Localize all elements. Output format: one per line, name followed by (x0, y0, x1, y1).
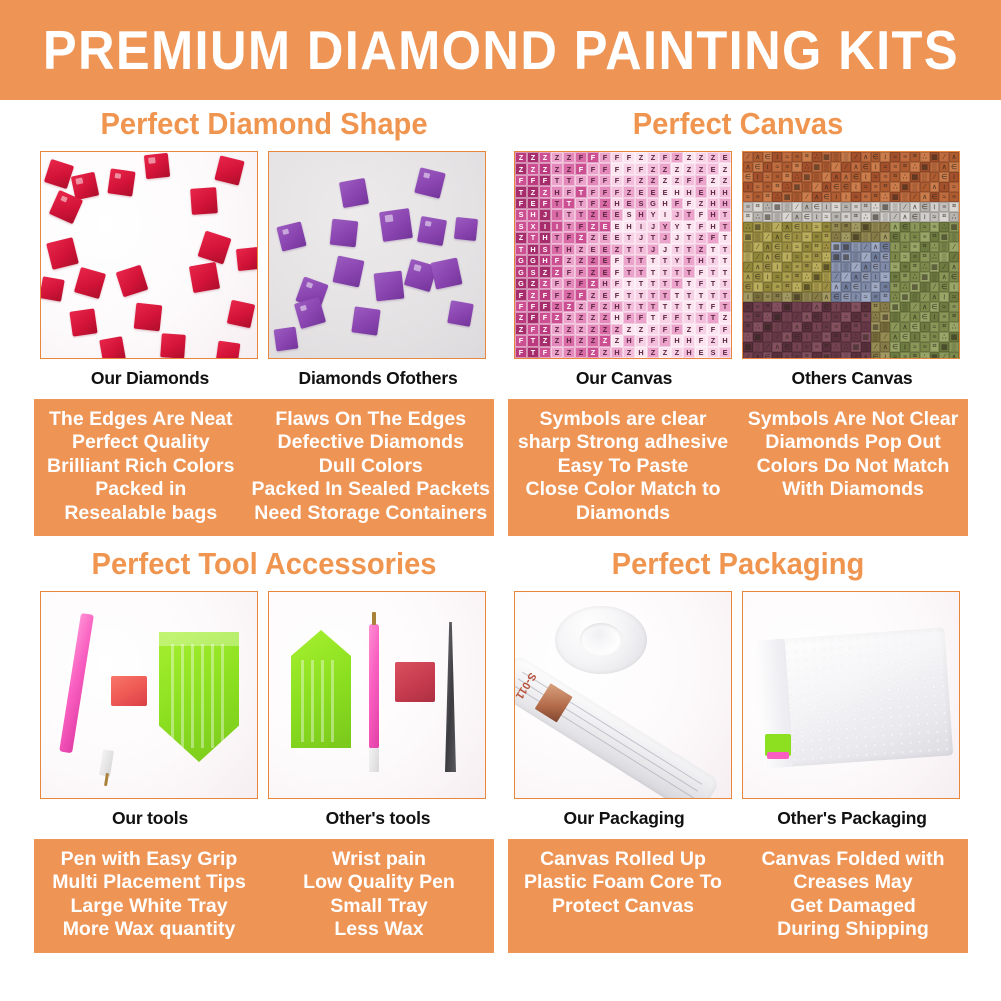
canvas-symbol-cell: Z (575, 301, 587, 312)
canvas-symbol-cell: Z (623, 186, 635, 197)
purple-diamond-drill (339, 178, 369, 208)
canvas-symbol-cell: E (599, 266, 611, 277)
canvas-symbol-cell: F (527, 175, 539, 186)
canvas-symbol-cell: F (575, 278, 587, 289)
canvas-symbol-cell: ∴ (841, 232, 851, 242)
canvas-symbol-cell: Z (575, 335, 587, 346)
canvas-symbol-cell: ⌗ (802, 262, 812, 272)
canvas-symbol-cell: ▒ (822, 162, 832, 172)
text-col-ours: Pen with Easy GripMulti Placement TipsLa… (34, 839, 264, 953)
canvas-symbol-cell: Z (683, 163, 695, 174)
canvas-symbol-cell: ▒ (939, 242, 949, 252)
canvas-symbol-cell: ≀ (812, 212, 822, 222)
canvas-symbol-cell: ▒ (782, 202, 792, 212)
canvas-symbol-cell: ▦ (831, 242, 841, 252)
canvas-symbol-cell: F (611, 163, 623, 174)
canvas-symbol-cell: ⁄ (743, 262, 753, 272)
canvas-symbol-cell: ⌗ (900, 272, 910, 282)
canvas-symbol-cell: ∴ (753, 322, 763, 332)
section-title: Perfect Tool Accessories (48, 548, 480, 579)
canvas-symbol-cell: ≈ (930, 322, 940, 332)
canvas-symbol-cell: E (599, 232, 611, 243)
canvas-symbol-cell: ▦ (792, 182, 802, 192)
canvas-symbol-cell: ▒ (812, 172, 822, 182)
canvas-symbol-cell: ≀ (920, 322, 930, 332)
photo-our-tools (40, 591, 258, 799)
tube-artwork-label (535, 683, 573, 722)
canvas-symbol-cell: ∴ (822, 242, 832, 252)
canvas-symbol-cell: H (707, 209, 719, 220)
canvas-symbol-cell: ⌗ (930, 342, 940, 352)
canvas-symbol-cell: T (719, 289, 731, 300)
canvas-symbol-cell: F (647, 324, 659, 335)
canvas-symbol-cell: F (671, 324, 683, 335)
canvas-symbol-cell: Z (551, 266, 563, 277)
canvas-symbol-cell: F (659, 312, 671, 323)
canvas-symbol-cell: ∧ (792, 322, 802, 332)
canvas-symbol-cell: ▒ (949, 232, 959, 242)
canvas-symbol-cell: G (515, 278, 527, 289)
canvas-symbol-cell: ⁄ (939, 352, 949, 359)
pane-others-diamonds: Diamonds Ofothers (268, 151, 488, 389)
canvas-symbol-cell: ∴ (930, 242, 940, 252)
canvas-symbol-cell: ∈ (841, 182, 851, 192)
canvas-symbol-cell: Z (515, 163, 527, 174)
canvas-symbol-cell: Z (719, 175, 731, 186)
canvas-symbol-cell: ⁄ (871, 342, 881, 352)
canvas-symbol-cell: Y (647, 209, 659, 220)
text-line: Canvas Rolled Up (512, 848, 734, 871)
canvas-symbol-cell: ▒ (861, 232, 871, 242)
canvas-symbol-cell: ≡ (910, 242, 920, 252)
wax-square-icon (395, 662, 435, 702)
canvas-symbol-cell: F (719, 324, 731, 335)
canvas-symbol-cell: ▒ (782, 312, 792, 322)
canvas-symbol-cell: F (515, 289, 527, 300)
canvas-symbol-cell: ≈ (949, 292, 959, 302)
canvas-symbol-cell: ▒ (792, 192, 802, 202)
canvas-symbol-cell: F (551, 255, 563, 266)
canvas-symbol-cell: ▒ (802, 182, 812, 192)
canvas-symbol-cell: ▦ (949, 332, 959, 342)
canvas-symbol-cell: ≀ (753, 172, 763, 182)
canvas-symbol-cell: T (707, 289, 719, 300)
canvas-symbol-cell: ∈ (900, 222, 910, 232)
canvas-symbol-cell: F (527, 324, 539, 335)
text-col-ours: Canvas Rolled UpPlastic Foam Core ToProt… (508, 839, 738, 953)
pane-others-tools: Other's tools (268, 591, 488, 829)
canvas-symbol-cell: ≡ (792, 152, 802, 162)
text-col-theirs: Wrist painLow Quality PenSmall TrayLess … (264, 839, 494, 953)
canvas-symbol-cell: ▦ (841, 252, 851, 262)
canvas-symbol-cell: ⌗ (792, 162, 802, 172)
red-diamond-drill (134, 303, 163, 332)
canvas-symbol-cell: ≈ (861, 182, 871, 192)
canvas-symbol-cell: ∧ (802, 202, 812, 212)
canvas-symbol-cell: ∧ (880, 232, 890, 242)
canvas-symbol-cell: ≈ (822, 322, 832, 332)
canvas-symbol-cell: T (659, 278, 671, 289)
canvas-symbol-cell: T (563, 175, 575, 186)
canvas-symbol-cell: H (611, 312, 623, 323)
canvas-symbol-cell: T (527, 232, 539, 243)
canvas-symbol-cell: ∴ (910, 272, 920, 282)
canvas-symbol-cell: ≈ (831, 202, 841, 212)
canvas-symbol-cell: E (587, 244, 599, 255)
canvas-symbol-cell: ∧ (812, 302, 822, 312)
canvas-symbol-cell: T (719, 209, 731, 220)
canvas-symbol-cell: ⁄ (851, 152, 861, 162)
text-line: Resealable bags (38, 502, 244, 525)
canvas-symbol-cell: ∧ (802, 312, 812, 322)
canvas-symbol-cell: ⌗ (910, 262, 920, 272)
canvas-symbol-cell: T (659, 289, 671, 300)
canvas-symbol-cell: H (539, 255, 551, 266)
canvas-symbol-cell: ≀ (772, 352, 782, 359)
canvas-symbol-cell: ⌗ (822, 232, 832, 242)
canvas-symbol-cell: ≈ (851, 192, 861, 202)
canvas-symbol-cell: H (719, 186, 731, 197)
purple-diamond-drill (430, 257, 462, 289)
canvas-symbol-cell: G (515, 266, 527, 277)
purple-diamond-drill (417, 216, 447, 246)
canvas-symbol-cell: T (635, 244, 647, 255)
canvas-symbol-cell: ≈ (880, 162, 890, 172)
canvas-symbol-cell: ▦ (861, 332, 871, 342)
canvas-symbol-cell: E (647, 186, 659, 197)
canvas-symbol-cell: ≈ (802, 232, 812, 242)
canvas-symbol-cell: ⌗ (802, 152, 812, 162)
comparison-text-block: Canvas Rolled UpPlastic Foam Core ToProt… (508, 839, 968, 953)
canvas-symbol-cell: F (587, 186, 599, 197)
canvas-symbol-cell: H (611, 301, 623, 312)
canvas-symbol-cell: ≀ (753, 282, 763, 292)
canvas-symbol-cell: ≈ (890, 352, 900, 359)
canvas-symbol-cell: ∧ (920, 192, 930, 202)
canvas-symbol-cell: ▒ (772, 322, 782, 332)
canvas-symbol-cell: ≡ (792, 262, 802, 272)
canvas-symbol-cell: ⁄ (920, 182, 930, 192)
canvas-symbol-cell: ▦ (802, 282, 812, 292)
canvas-symbol-cell: E (599, 221, 611, 232)
canvas-symbol-cell: E (623, 198, 635, 209)
canvas-symbol-cell: Z (563, 312, 575, 323)
canvas-symbol-cell: ▦ (812, 272, 822, 282)
text-line: Packed in (38, 478, 244, 501)
canvas-symbol-cell: ∈ (831, 292, 841, 302)
canvas-symbol-cell: ≡ (743, 202, 753, 212)
canvas-symbol-cell: ≀ (822, 312, 832, 322)
canvas-symbol-cell: F (611, 278, 623, 289)
canvas-symbol-cell: ▦ (861, 222, 871, 232)
canvas-symbol-cell: F (623, 163, 635, 174)
pane-caption: Our Packaging (514, 808, 734, 829)
canvas-symbol-cell: ∧ (753, 152, 763, 162)
canvas-symbol-cell: Z (587, 324, 599, 335)
text-line: With Diamonds (742, 478, 964, 501)
text-line: Plastic Foam Core To (512, 871, 734, 894)
canvas-symbol-cell: T (647, 232, 659, 243)
canvas-symbol-cell: T (719, 232, 731, 243)
canvas-symbol-cell: T (671, 244, 683, 255)
canvas-symbol-cell: Z (611, 335, 623, 346)
canvas-symbol-cell: ▦ (949, 222, 959, 232)
canvas-symbol-cell: T (659, 301, 671, 312)
canvas-symbol-cell: ≈ (763, 282, 773, 292)
canvas-symbol-cell: I (635, 221, 647, 232)
canvas-symbol-cell: ▒ (822, 272, 832, 282)
canvas-symbol-cell: ≀ (802, 222, 812, 232)
canvas-symbol-cell: ∧ (930, 182, 940, 192)
cap-hole (580, 623, 622, 656)
canvas-symbol-cell: S (539, 244, 551, 255)
canvas-symbol-cell: F (539, 198, 551, 209)
canvas-symbol-cell: ▦ (871, 322, 881, 332)
purple-diamond-drill (379, 208, 413, 242)
canvas-symbol-cell: Z (527, 289, 539, 300)
canvas-symbol-cell: T (671, 266, 683, 277)
canvas-symbol-cell: ≡ (802, 252, 812, 262)
section-title: Perfect Canvas (522, 108, 954, 139)
canvas-symbol-cell: ∴ (920, 262, 930, 272)
canvas-symbol-cell: ▦ (900, 182, 910, 192)
canvas-symbol-cell: ∧ (910, 202, 920, 212)
canvas-symbol-cell: T (683, 209, 695, 220)
canvas-symbol-cell: ▦ (930, 262, 940, 272)
canvas-symbol-cell: ▒ (763, 332, 773, 342)
canvas-symbol-cell: ≡ (930, 332, 940, 342)
canvas-symbol-cell: ⁄ (930, 282, 940, 292)
canvas-symbol-cell: ∧ (782, 332, 792, 342)
canvas-symbol-cell: Z (599, 301, 611, 312)
canvas-symbol-cell: Z (671, 152, 683, 163)
canvas-symbol-cell: F (635, 312, 647, 323)
canvas-symbol-cell: Z (587, 347, 599, 358)
canvas-symbol-cell: E (611, 221, 623, 232)
canvas-symbol-cell: ▒ (920, 172, 930, 182)
canvas-symbol-cell: ⁄ (753, 242, 763, 252)
canvas-symbol-cell: ∴ (949, 322, 959, 332)
canvas-symbol-cell: ⌗ (792, 272, 802, 282)
canvas-symbol-cell: ∈ (890, 342, 900, 352)
canvas-symbol-cell: ≈ (880, 272, 890, 282)
canvas-symbol-cell: ≡ (753, 302, 763, 312)
canvas-symbol-cell: ≀ (861, 172, 871, 182)
canvas-symbol-cell: F (695, 175, 707, 186)
canvas-symbol-cell: H (719, 335, 731, 346)
canvas-symbol-cell: ≀ (763, 162, 773, 172)
canvas-symbol-cell: ⁄ (753, 252, 763, 262)
canvas-symbol-cell: F (527, 301, 539, 312)
canvas-symbol-cell: ≀ (910, 332, 920, 342)
canvas-symbol-cell: T (671, 278, 683, 289)
canvas-symbol-cell: ≈ (802, 342, 812, 352)
canvas-symbol-cell: Z (587, 266, 599, 277)
canvas-symbol-cell: ≀ (782, 242, 792, 252)
canvas-symbol-cell: ∴ (871, 312, 881, 322)
canvas-symbol-cell: ⁄ (763, 232, 773, 242)
canvas-symbol-cell: ∈ (743, 172, 753, 182)
canvas-symbol-cell: ∴ (753, 212, 763, 222)
canvas-symbol-cell: F (695, 266, 707, 277)
section-title: Perfect Diamond Shape (48, 108, 480, 139)
canvas-symbol-cell: H (611, 198, 623, 209)
canvas-symbol-cell: ⁄ (880, 332, 890, 342)
canvas-symbol-cell: ⁄ (743, 152, 753, 162)
canvas-symbol-cell: ≡ (812, 342, 822, 352)
canvas-symbol-cell: ⌗ (920, 252, 930, 262)
canvas-symbol-cell: ≀ (910, 222, 920, 232)
canvas-symbol-cell: ∈ (880, 242, 890, 252)
canvas-symbol-cell: ∴ (900, 172, 910, 182)
canvas-symbol-cell: Z (659, 175, 671, 186)
canvas-symbol-cell: ▦ (930, 152, 940, 162)
canvas-symbol-cell: T (527, 335, 539, 346)
canvas-symbol-cell: ≀ (851, 292, 861, 302)
canvas-symbol-cell: ▒ (920, 282, 930, 292)
canvas-symbol-cell: F (599, 152, 611, 163)
canvas-symbol-cell: G (647, 198, 659, 209)
canvas-symbol-cell: ∴ (812, 262, 822, 272)
canvas-symbol-cell: ≡ (880, 172, 890, 182)
canvas-symbol-cell: H (599, 278, 611, 289)
canvas-symbol-cell: ∧ (812, 192, 822, 202)
canvas-symbol-cell: ∈ (792, 222, 802, 232)
photo-others-packaging (742, 591, 960, 799)
canvas-symbol-cell: T (647, 255, 659, 266)
text-line: Get Damaged (742, 895, 964, 918)
canvas-symbol-cell: ≡ (939, 312, 949, 322)
canvas-symbol-cell: ⌗ (939, 322, 949, 332)
canvas-symbol-cell: T (671, 289, 683, 300)
canvas-symbol-cell: ▒ (812, 282, 822, 292)
canvas-symbol-cell: T (683, 221, 695, 232)
canvas-symbol-cell: ⁄ (792, 312, 802, 322)
canvas-symbol-cell: ∴ (900, 282, 910, 292)
canvas-symbol-cell: ∈ (871, 152, 881, 162)
canvas-symbol-cell: ∈ (910, 212, 920, 222)
canvas-symbol-cell: F (551, 289, 563, 300)
canvas-symbol-cell: F (587, 152, 599, 163)
canvas-symbol-cell: Z (551, 301, 563, 312)
red-diamond-drill (69, 308, 97, 336)
canvas-symbol-cell: ≡ (871, 182, 881, 192)
symbol-grid-unclear: ⁄∧∈≀≈≡⌗∴▦▒▒⁄∧∈≀≈≡⌗∴▦⁄∧∧∈≀≈≡⌗∴▦▒⁄⁄∧∈≀≈≡⌗∴… (743, 152, 959, 358)
text-line: Colors Do Not Match (742, 455, 964, 478)
canvas-symbol-cell: Z (611, 324, 623, 335)
canvas-symbol-cell: F (563, 278, 575, 289)
canvas-symbol-cell: F (707, 301, 719, 312)
canvas-symbol-cell: ∧ (861, 152, 871, 162)
canvas-symbol-cell: Z (671, 347, 683, 358)
canvas-symbol-cell: Z (671, 163, 683, 174)
canvas-symbol-cell: ⁄ (910, 192, 920, 202)
red-diamond-drill (227, 300, 255, 328)
canvas-symbol-cell: ⁄ (822, 172, 832, 182)
canvas-symbol-cell: T (623, 232, 635, 243)
canvas-symbol-cell: Z (539, 152, 551, 163)
purple-diamond-drill (330, 219, 359, 248)
canvas-symbol-cell: ≡ (763, 182, 773, 192)
canvas-symbol-cell: ≡ (920, 232, 930, 242)
canvas-symbol-cell: ≀ (939, 182, 949, 192)
tube-cap-icon (555, 606, 647, 674)
canvas-symbol-cell: H (611, 347, 623, 358)
canvas-symbol-cell: ⁄ (782, 322, 792, 332)
canvas-symbol-cell: ∈ (772, 242, 782, 252)
canvas-symbol-cell: F (539, 301, 551, 312)
canvas-symbol-cell: Z (695, 198, 707, 209)
canvas-symbol-cell: F (611, 266, 623, 277)
canvas-symbol-cell: ∴ (841, 342, 851, 352)
canvas-symbol-cell: ∈ (949, 162, 959, 172)
canvas-symbol-cell: Z (587, 232, 599, 243)
canvas-symbol-cell: S (707, 347, 719, 358)
canvas-symbol-cell: ⌗ (949, 312, 959, 322)
canvas-symbol-cell: Z (707, 175, 719, 186)
pane-our-canvas: ZZZZZFFFFFZZFZZZZEZZZZZFFFFFFZZZZZEZFFFT… (514, 151, 734, 389)
canvas-symbol-cell: ≈ (871, 282, 881, 292)
canvas-symbol-cell: ≈ (822, 212, 832, 222)
canvas-symbol-cell: T (623, 266, 635, 277)
text-line: Pen with Easy Grip (38, 848, 260, 871)
canvas-symbol-cell: ≈ (861, 292, 871, 302)
canvas-symbol-cell: ⌗ (871, 192, 881, 202)
canvas-symbol-cell: Z (695, 244, 707, 255)
canvas-symbol-cell: ⌗ (900, 162, 910, 172)
canvas-symbol-cell: Z (551, 312, 563, 323)
canvas-symbol-cell: ∴ (822, 252, 832, 262)
canvas-symbol-cell: ⁄ (802, 192, 812, 202)
canvas-symbol-cell: ⌗ (939, 212, 949, 222)
canvas-symbol-cell: ≡ (822, 222, 832, 232)
photo-our-canvas: ZZZZZFFFFFZZFZZZZEZZZZZFFFFFFZZZZZEZFFFT… (514, 151, 732, 359)
canvas-symbol-cell: ∧ (822, 292, 832, 302)
canvas-symbol-cell: ⁄ (880, 222, 890, 232)
canvas-symbol-cell: T (575, 209, 587, 220)
text-line: More Wax quantity (38, 918, 260, 941)
canvas-symbol-cell: ≀ (772, 152, 782, 162)
canvas-symbol-cell: T (719, 301, 731, 312)
text-line: Defective Diamonds (252, 431, 490, 454)
canvas-symbol-cell: F (587, 301, 599, 312)
canvas-symbol-cell: ⁄ (930, 172, 940, 182)
canvas-symbol-cell: ≡ (753, 192, 763, 202)
canvas-symbol-cell: ▒ (910, 182, 920, 192)
comparison-text-block: Pen with Easy GripMulti Placement TipsLa… (34, 839, 494, 953)
canvas-symbol-cell: ⁄ (949, 252, 959, 262)
canvas-symbol-cell: I (659, 209, 671, 220)
canvas-symbol-cell: Z (515, 152, 527, 163)
canvas-symbol-cell: ▦ (743, 232, 753, 242)
canvas-symbol-cell: F (563, 266, 575, 277)
canvas-symbol-cell: ⁄ (772, 222, 782, 232)
canvas-symbol-cell: Z (683, 324, 695, 335)
canvas-symbol-cell: ≈ (851, 302, 861, 312)
comparison-text-block: Symbols are clearsharp Strong adhesiveEa… (508, 399, 968, 536)
canvas-symbol-cell: ▦ (822, 152, 832, 162)
canvas-symbol-cell: Z (515, 232, 527, 243)
canvas-symbol-cell: F (671, 198, 683, 209)
canvas-symbol-cell: ▦ (890, 302, 900, 312)
canvas-symbol-cell: T (719, 255, 731, 266)
canvas-symbol-cell: ≈ (910, 342, 920, 352)
canvas-symbol-cell: J (635, 232, 647, 243)
canvas-symbol-cell: Z (515, 324, 527, 335)
canvas-symbol-cell: ∧ (890, 222, 900, 232)
canvas-symbol-cell: ∴ (851, 332, 861, 342)
canvas-symbol-cell: ≈ (782, 262, 792, 272)
